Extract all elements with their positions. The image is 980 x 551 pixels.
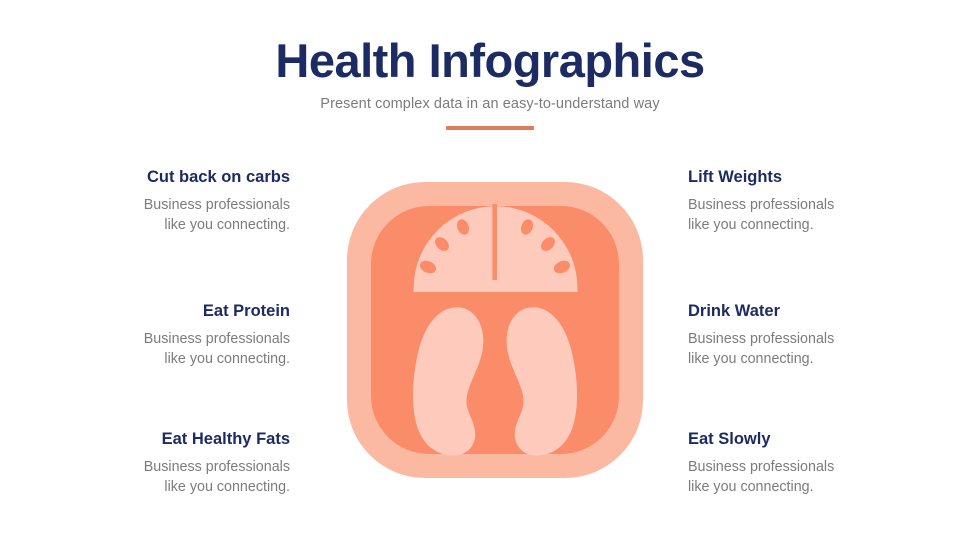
item-title: Cut back on carbs [40, 168, 290, 188]
list-item-lift-weights[interactable]: Lift Weights Business professionals like… [688, 168, 938, 235]
item-title: Lift Weights [688, 168, 938, 188]
item-description: Business professionals like you connecti… [688, 195, 938, 236]
page-subtitle: Present complex data in an easy-to-under… [0, 96, 980, 112]
header: Health Infographics Present complex data… [0, 36, 980, 130]
title-divider [446, 126, 534, 130]
item-description: Business professionals like you connecti… [40, 457, 290, 498]
list-item-cut-back-on-carbs[interactable]: Cut back on carbs Business professionals… [40, 168, 290, 235]
list-item-eat-protein[interactable]: Eat Protein Business professionals like … [40, 302, 290, 369]
item-title: Eat Protein [40, 302, 290, 322]
list-item-eat-healthy-fats[interactable]: Eat Healthy Fats Business professionals … [40, 430, 290, 497]
slide-root: Health Infographics Present complex data… [0, 0, 980, 551]
center-illustration [345, 180, 645, 480]
item-title: Eat Healthy Fats [40, 430, 290, 450]
page-title: Health Infographics [0, 36, 980, 87]
list-item-drink-water[interactable]: Drink Water Business professionals like … [688, 302, 938, 369]
list-item-eat-slowly[interactable]: Eat Slowly Business professionals like y… [688, 430, 938, 497]
item-description: Business professionals like you connecti… [688, 457, 938, 498]
item-description: Business professionals like you connecti… [40, 329, 290, 370]
item-description: Business professionals like you connecti… [688, 329, 938, 370]
item-description: Business professionals like you connecti… [40, 195, 290, 236]
item-title: Drink Water [688, 302, 938, 322]
item-title: Eat Slowly [688, 430, 938, 450]
bathroom-scale-icon [345, 180, 645, 480]
